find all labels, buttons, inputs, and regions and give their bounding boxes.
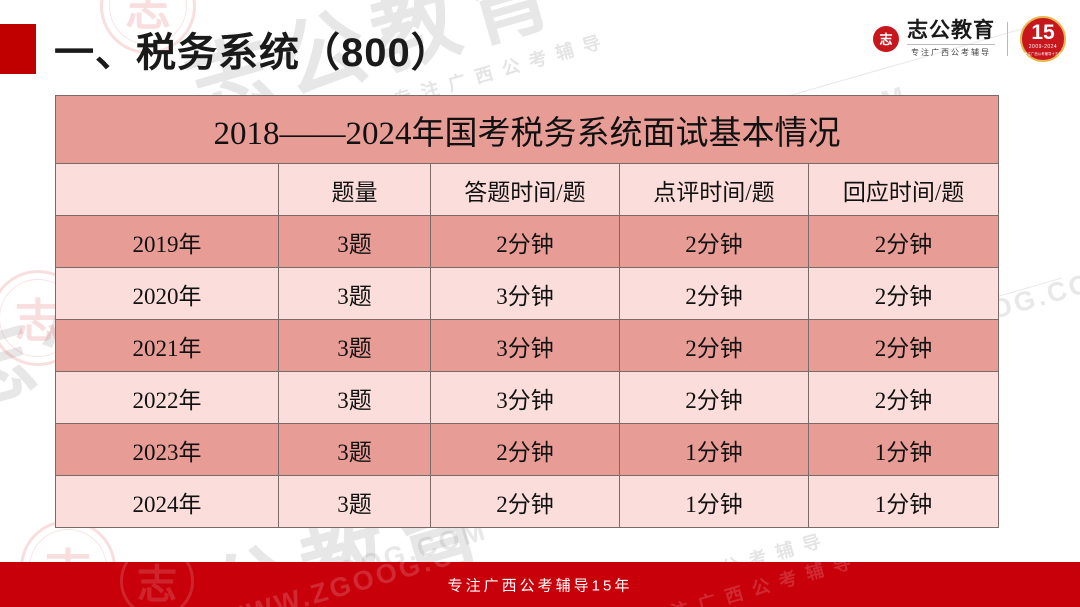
cell-question-count: 3题 bbox=[279, 372, 431, 424]
brand-logo: 志 志公教育 专注广西公考辅导 15 2009-2024 专注广西公考辅导十五年 bbox=[873, 16, 1066, 62]
cell-question-count: 3题 bbox=[279, 216, 431, 268]
cell-response-time: 2分钟 bbox=[809, 216, 999, 268]
cell-year: 2020年 bbox=[56, 268, 279, 320]
cell-comment-time: 2分钟 bbox=[620, 268, 809, 320]
table-row: 2020年 3题 3分钟 2分钟 2分钟 bbox=[56, 268, 999, 320]
cell-comment-time: 2分钟 bbox=[620, 216, 809, 268]
cell-answer-time: 2分钟 bbox=[431, 476, 620, 528]
brand-name: 志公教育 bbox=[907, 20, 995, 42]
title-accent-marker bbox=[0, 24, 36, 74]
table-row: 2023年 3题 2分钟 1分钟 1分钟 bbox=[56, 424, 999, 476]
brand-tagline: 专注广西公考辅导 bbox=[907, 44, 995, 58]
table-title: 2018——2024年国考税务系统面试基本情况 bbox=[56, 96, 999, 164]
cell-year: 2021年 bbox=[56, 320, 279, 372]
cell-answer-time: 3分钟 bbox=[431, 268, 620, 320]
cell-year: 2019年 bbox=[56, 216, 279, 268]
footer-bar: 志 WWW.ZGOOG.COM 专注广西公考辅导 专注广西公考辅导15年 bbox=[0, 562, 1080, 607]
cell-question-count: 3题 bbox=[279, 320, 431, 372]
brand-divider bbox=[1007, 22, 1008, 56]
anniversary-years: 2009-2024 bbox=[1029, 44, 1057, 50]
cell-question-count: 3题 bbox=[279, 476, 431, 528]
table-row: 2021年 3题 3分钟 2分钟 2分钟 bbox=[56, 320, 999, 372]
cell-response-time: 1分钟 bbox=[809, 476, 999, 528]
footer-text: 专注广西公考辅导15年 bbox=[0, 574, 1080, 595]
cell-comment-time: 1分钟 bbox=[620, 424, 809, 476]
cell-comment-time: 2分钟 bbox=[620, 372, 809, 424]
brand-seal-glyph: 志 bbox=[879, 33, 892, 46]
column-header-comment-time: 点评时间/题 bbox=[620, 164, 809, 216]
slide-canvas: 志公教育 WWW.ZGOOG.COM 专注广西公考辅导 志公教育 WWW.ZGO… bbox=[0, 0, 1080, 607]
column-header-question-count: 题量 bbox=[279, 164, 431, 216]
cell-question-count: 3题 bbox=[279, 268, 431, 320]
page-title-text: 一、税务系统（800） bbox=[54, 20, 452, 78]
table-row: 2022年 3题 3分钟 2分钟 2分钟 bbox=[56, 372, 999, 424]
cell-answer-time: 3分钟 bbox=[431, 372, 620, 424]
cell-year: 2023年 bbox=[56, 424, 279, 476]
column-header-answer-time: 答题时间/题 bbox=[431, 164, 620, 216]
column-header-response-time: 回应时间/题 bbox=[809, 164, 999, 216]
brand-name-group: 志公教育 专注广西公考辅导 bbox=[907, 20, 995, 58]
page-title: 一、税务系统（800） bbox=[0, 18, 452, 80]
interview-summary-table: 2018——2024年国考税务系统面试基本情况 题量 答题时间/题 点评时间/题… bbox=[55, 95, 999, 528]
cell-response-time: 2分钟 bbox=[809, 372, 999, 424]
cell-response-time: 2分钟 bbox=[809, 268, 999, 320]
cell-comment-time: 2分钟 bbox=[620, 320, 809, 372]
cell-answer-time: 3分钟 bbox=[431, 320, 620, 372]
cell-comment-time: 1分钟 bbox=[620, 476, 809, 528]
cell-year: 2024年 bbox=[56, 476, 279, 528]
cell-year: 2022年 bbox=[56, 372, 279, 424]
table-header-row: 题量 答题时间/题 点评时间/题 回应时间/题 bbox=[56, 164, 999, 216]
cell-answer-time: 2分钟 bbox=[431, 216, 620, 268]
table-title-row: 2018——2024年国考税务系统面试基本情况 bbox=[56, 96, 999, 164]
cell-question-count: 3题 bbox=[279, 424, 431, 476]
column-header-year bbox=[56, 164, 279, 216]
anniversary-tagline: 专注广西公考辅导十五年 bbox=[1024, 51, 1061, 56]
anniversary-number: 15 bbox=[1031, 22, 1054, 43]
cell-response-time: 1分钟 bbox=[809, 424, 999, 476]
table-row: 2024年 3题 2分钟 1分钟 1分钟 bbox=[56, 476, 999, 528]
cell-response-time: 2分钟 bbox=[809, 320, 999, 372]
cell-answer-time: 2分钟 bbox=[431, 424, 620, 476]
anniversary-badge: 15 2009-2024 专注广西公考辅导十五年 bbox=[1020, 16, 1066, 62]
brand-seal-icon: 志 bbox=[873, 26, 899, 52]
table-row: 2019年 3题 2分钟 2分钟 2分钟 bbox=[56, 216, 999, 268]
